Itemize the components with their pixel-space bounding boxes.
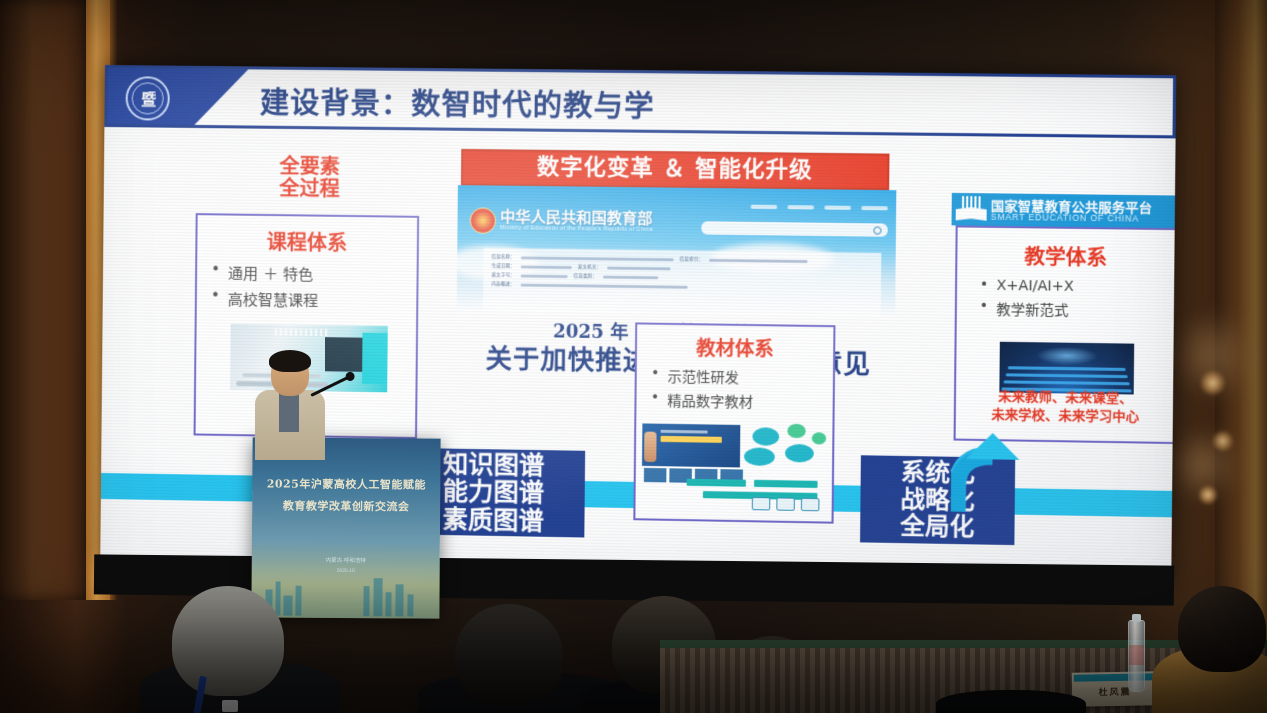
list-item: 高校智慧课程 xyxy=(211,288,417,312)
doc-field-label: 发文机关： xyxy=(578,264,601,270)
curved-up-arrow xyxy=(951,414,1039,517)
skyline-building xyxy=(283,596,292,616)
flow-bar xyxy=(687,479,746,487)
classroom-glow xyxy=(1036,346,1098,365)
red-headline-banner: 数字化变革 ＆ 智能化升级 xyxy=(461,149,890,190)
sconce-light-icon-3 xyxy=(1198,485,1218,505)
presenter-hair xyxy=(269,350,311,372)
doc-field-label: 发文字号： xyxy=(491,272,514,278)
bottle-label xyxy=(1129,645,1144,665)
list-item: X+AI/AI+X xyxy=(980,277,1175,296)
wall-panel-left xyxy=(0,0,92,600)
bubble-node xyxy=(785,444,814,463)
presenter-at-podium xyxy=(255,352,325,457)
doc-field-value xyxy=(603,275,658,279)
bullet-text: 高校智慧课程 xyxy=(228,289,319,311)
logo-book xyxy=(956,207,987,221)
doc-field-row: 内容概述： xyxy=(491,281,872,292)
person-thumb xyxy=(644,432,657,462)
speaker-podium: 2025年沪蒙高校人工智能赋能 教育教学改革创新交流会 内蒙古·呼和浩特 202… xyxy=(251,437,440,618)
name-card-text: 杜风震 xyxy=(1072,684,1158,698)
skyline-building xyxy=(373,578,382,616)
moe-top-nav[interactable] xyxy=(751,205,888,211)
card-curriculum-heading: 课程体系 xyxy=(197,225,417,257)
nav-item[interactable] xyxy=(751,205,778,209)
open-book-logo xyxy=(956,196,987,223)
nav-item[interactable] xyxy=(787,205,814,209)
moe-site-subtitle: Ministry of Education of the People's Re… xyxy=(500,225,653,233)
moe-document-panel: 信息名称：信息索引：生成日期：发文机关：发文字号：信息类别：内容概述： xyxy=(483,248,881,318)
banner-line: 全局化 xyxy=(860,512,1015,541)
doc-field-value xyxy=(521,256,674,261)
audience-head xyxy=(172,586,284,696)
card-materials-bullets: 示范性研发 精品数字教材 xyxy=(636,366,833,413)
moe-document-fields: 信息名称：信息索引：生成日期：发文机关：发文字号：信息类别：内容概述： xyxy=(491,254,873,295)
card-teaching-heading: 教学体系 xyxy=(957,240,1174,272)
logo-rays xyxy=(962,196,981,208)
card-materials: 教材体系 示范性研发 精品数字教材 xyxy=(633,322,835,523)
doc-field-label: 信息类别： xyxy=(574,273,597,279)
monitor-icon xyxy=(801,498,820,511)
presenter-shirt xyxy=(279,392,299,432)
seat-row xyxy=(1006,373,1128,378)
textbook-cover-thumb xyxy=(642,423,740,467)
card-materials-heading: 教材体系 xyxy=(637,333,833,363)
cover-subtitle-bar xyxy=(661,430,708,434)
doc-field-label: 生成日期： xyxy=(492,263,515,269)
red-overline: 全要素 全过程 xyxy=(244,155,375,201)
nav-item[interactable] xyxy=(824,206,851,210)
badge xyxy=(222,700,238,712)
water-bottle xyxy=(1128,620,1145,692)
bubble-node xyxy=(744,447,775,466)
audience-head xyxy=(455,604,563,706)
doc-field-label: 信息索引： xyxy=(680,256,704,262)
red-banner-text: 数字化变革 ＆ 智能化升级 xyxy=(463,151,887,188)
doc-field-value xyxy=(521,274,568,278)
doc-field-value xyxy=(521,265,572,269)
skyline-building xyxy=(275,582,280,616)
skyline-building xyxy=(407,594,413,616)
smart-education-title-en: SMART EDUCATION OF CHINA xyxy=(991,212,1139,224)
podium-title-line2: 教育教学改革创新交流会 xyxy=(252,497,440,514)
list-item: 教学新范式 xyxy=(979,299,1174,322)
seal-mark: 暨 xyxy=(141,88,154,109)
smart-education-header: 国家智慧教育公共服务平台 SMART EDUCATION OF CHINA xyxy=(952,193,1177,228)
ceiling-light-decor xyxy=(275,328,328,335)
sconce-light-icon xyxy=(1200,370,1226,396)
podium-title-line1: 2025年沪蒙高校人工智能赋能 xyxy=(252,475,440,492)
skyline-building xyxy=(363,586,369,616)
moe-website-screenshot: 中华人民共和国教育部 Ministry of Education of the … xyxy=(457,185,897,318)
red-overline-line2: 全过程 xyxy=(244,177,375,201)
bullet-text: 示范性研发 xyxy=(667,366,739,387)
bullet-text: X+AI/AI+X xyxy=(996,278,1073,295)
list-item: 示范性研发 xyxy=(651,366,833,389)
laptop-icon xyxy=(752,497,771,510)
skyline-building xyxy=(295,586,301,616)
seat-row xyxy=(1004,380,1130,385)
doc-field-value xyxy=(709,258,807,262)
doc-field-label: 信息名称： xyxy=(492,254,515,260)
card-curriculum-bullets: 通用 ＋ 特色 高校智慧课程 xyxy=(197,262,417,312)
bottle-cap xyxy=(1132,614,1141,622)
podium-location: 内蒙古·呼和浩特 xyxy=(252,555,440,564)
thumbnail xyxy=(644,468,667,483)
doc-field-value xyxy=(607,266,670,270)
search-icon[interactable] xyxy=(873,226,881,234)
doc-field-label: 内容概述： xyxy=(491,281,514,287)
card-teaching-bullets: X+AI/AI+X 教学新范式 xyxy=(957,277,1174,322)
future-classroom-photo xyxy=(999,342,1134,395)
list-item: 精品数字教材 xyxy=(651,390,833,413)
audience-head xyxy=(1178,586,1266,672)
classroom-side-panel xyxy=(362,332,388,384)
conference-photo: 暨 建设背景：数智时代的教与学 全要素 全过程 数字化变革 ＆ 智能化升级 中华… xyxy=(0,0,1267,713)
bubble-node xyxy=(812,432,826,444)
red-overline-line1: 全要素 xyxy=(244,155,375,179)
nav-item[interactable] xyxy=(861,206,888,210)
university-seal-logo: 暨 xyxy=(125,76,169,120)
seat-row xyxy=(1008,366,1126,371)
list-item: 通用 ＋ 特色 xyxy=(211,262,417,286)
doc-field-value xyxy=(521,283,688,288)
skyline-building xyxy=(385,592,391,616)
cover-title-bar xyxy=(661,436,722,443)
slide-title: 建设背景：数智时代的教与学 xyxy=(260,80,655,126)
bullet-text: 教学新范式 xyxy=(996,299,1068,320)
sconce-light-icon-2 xyxy=(1212,430,1234,452)
bubble-node xyxy=(787,424,806,438)
slide-title-bar: 暨 建设背景：数智时代的教与学 xyxy=(104,65,1176,138)
moe-search-input[interactable] xyxy=(701,221,887,236)
national-emblem-icon xyxy=(470,207,497,233)
bullet-text: 通用 ＋ 特色 xyxy=(228,263,313,285)
bullet-text: 精品数字教材 xyxy=(667,391,753,413)
digital-textbook-diagram xyxy=(642,421,831,513)
flow-bar xyxy=(754,480,818,488)
bubble-node xyxy=(752,427,779,446)
tablet-icon xyxy=(776,497,795,510)
skyline-building xyxy=(395,584,403,616)
audience-shoulders xyxy=(936,690,1086,713)
podium-skyline-graphic xyxy=(251,573,439,618)
